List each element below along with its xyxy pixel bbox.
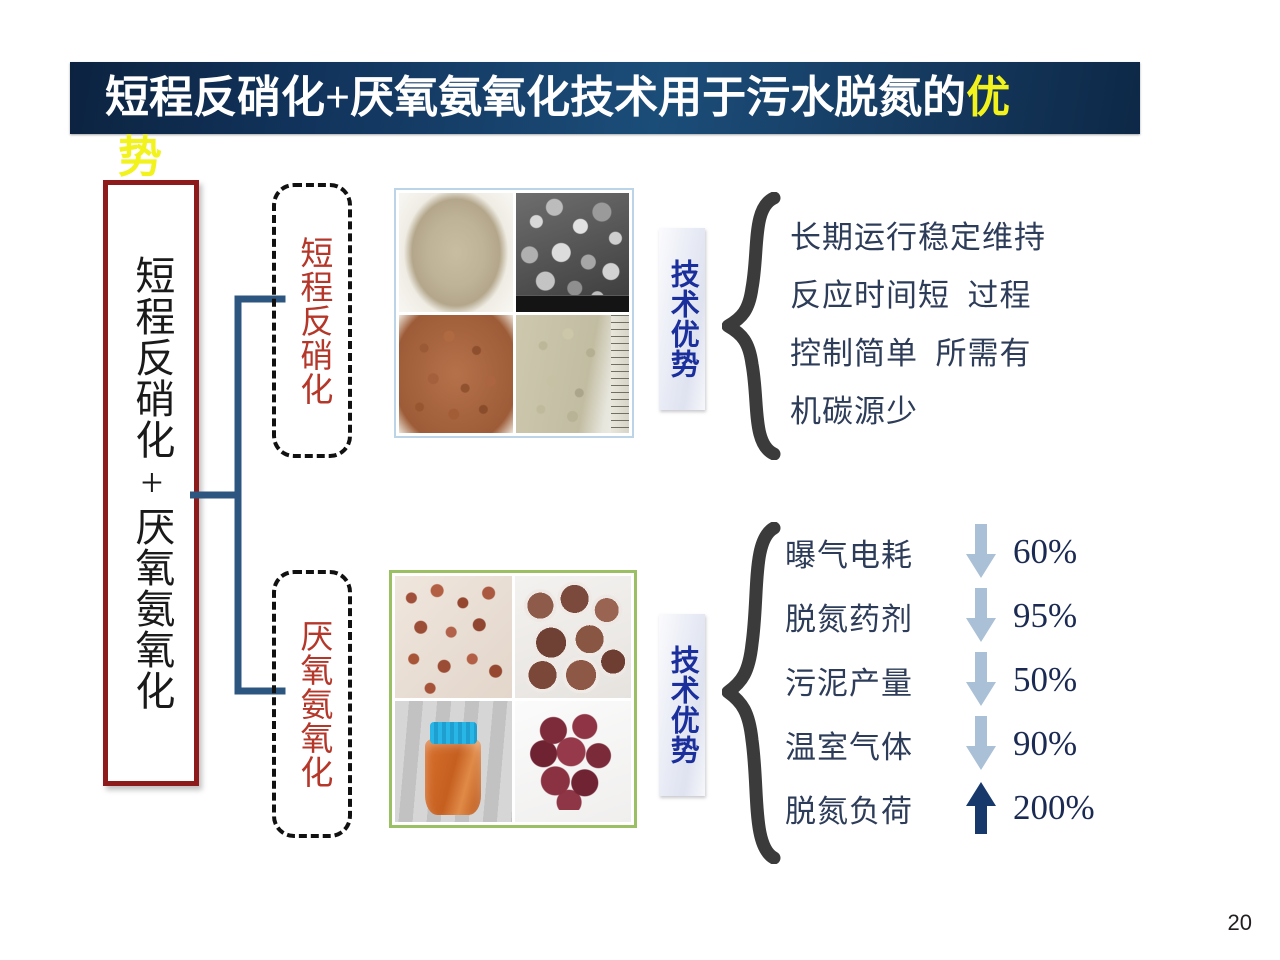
metric-value: 90% (1013, 724, 1077, 764)
metric-value: 60% (1013, 532, 1077, 572)
sludge-bottle-photo (395, 701, 512, 823)
arrow-down-icon (963, 652, 999, 708)
arrow-down-icon (963, 588, 999, 644)
brown-granule-photo (399, 315, 513, 434)
advantage-line: 反应时间短 过程 (790, 280, 1120, 311)
metric-label: 污泥产量 (785, 658, 913, 703)
red-granule-photo (395, 576, 512, 698)
curly-brace-lower-icon (722, 522, 784, 864)
tech-advantage-label-upper-text: 技术优势 (666, 259, 698, 379)
page-number: 20 (1228, 910, 1252, 936)
metric-row: 温室气体 90% (785, 712, 1145, 776)
metric-row: 污泥产量 50% (785, 648, 1145, 712)
tech-advantage-label-upper: 技术优势 (659, 228, 705, 410)
title-highlight-text: 优 (966, 73, 1010, 122)
metric-label: 脱氮负荷 (785, 786, 913, 831)
root-concept-label: 短程反硝化+厌氧氨氧化 (131, 255, 172, 711)
dashed-box-partial-denitrification: 短程反硝化 (272, 183, 352, 458)
metric-row: 曝气电耗 60% (785, 520, 1145, 584)
metric-row: 脱氮药剂 95% (785, 584, 1145, 648)
title-tail-text: 势 (118, 136, 162, 180)
ring-carrier-photo (515, 576, 632, 698)
tech-advantage-label-lower-text: 技术优势 (666, 645, 698, 765)
advantage-line: 控制简单 所需有 (790, 338, 1120, 369)
root-concept-box-inner: 短程反硝化+厌氧氨氧化 (108, 185, 194, 781)
dashed-label-anammox: 厌氧氨氧化 (294, 619, 330, 789)
page-title: 短程反硝化+厌氧氨氧化技术用于污水脱氮的优 (105, 66, 1165, 130)
root-concept-box: 短程反硝化+厌氧氨氧化 (103, 180, 199, 786)
metric-value: 200% (1013, 788, 1095, 828)
arrow-down-icon (963, 716, 999, 772)
advantage-list-upper: 长期运行稳定维持 反应时间短 过程 控制简单 所需有 机碳源少 (790, 222, 1120, 454)
red-cube-photo (515, 701, 632, 823)
metric-label: 曝气电耗 (785, 530, 913, 575)
metric-value: 95% (1013, 596, 1077, 636)
dashed-label-partial-denitrification: 短程反硝化 (294, 236, 330, 406)
dashed-box-anammox: 厌氧氨氧化 (272, 570, 352, 838)
tech-advantage-label-lower: 技术优势 (659, 614, 705, 796)
arrow-down-icon (963, 524, 999, 580)
photo-grid-partial-denitrification (394, 188, 634, 438)
pale-granule-photo (516, 315, 630, 434)
arrow-up-icon (963, 780, 999, 836)
advantage-line: 长期运行稳定维持 (790, 222, 1120, 253)
slide-canvas: 短程反硝化+厌氧氨氧化技术用于污水脱氮的优 势 短程反硝化+厌氧氨氧化 短程反硝… (0, 0, 1280, 960)
metric-list-anammox: 曝气电耗 60% 脱氮药剂 95% 污泥产量 50% 温室气体 9 (785, 520, 1145, 840)
curly-brace-upper-icon (722, 192, 784, 460)
photo-grid-anammox (389, 570, 637, 828)
title-main-text: 短程反硝化+厌氧氨氧化技术用于污水脱氮的 (105, 73, 966, 122)
sem-micrograph-photo (516, 193, 630, 312)
metric-row: 脱氮负荷 200% (785, 776, 1145, 840)
metric-label: 温室气体 (785, 722, 913, 767)
biofilm-plate-photo (399, 193, 513, 312)
metric-label: 脱氮药剂 (785, 594, 913, 639)
metric-value: 50% (1013, 660, 1077, 700)
advantage-line: 机碳源少 (790, 396, 1120, 427)
